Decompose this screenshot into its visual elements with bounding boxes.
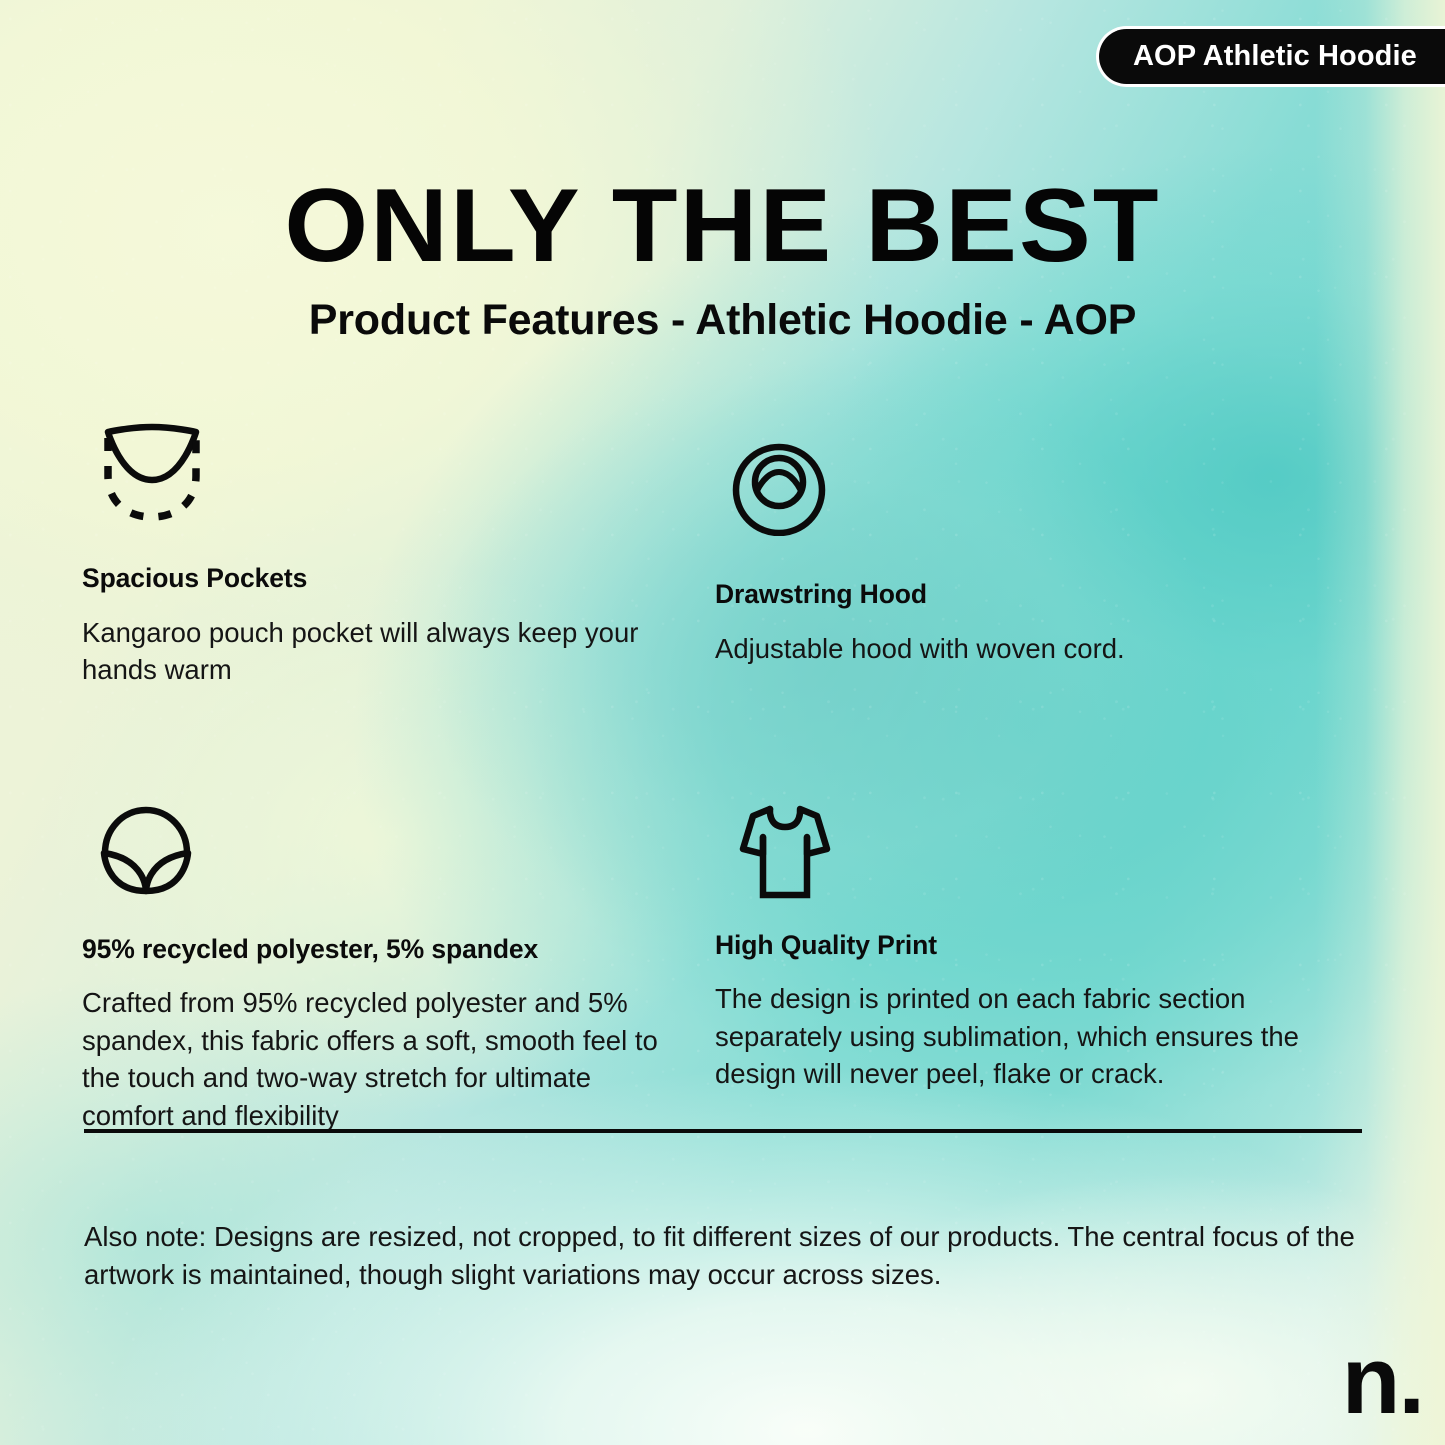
page-subheading: Product Features - Athletic Hoodie - AOP [0,296,1445,345]
feature-drawstring-hood: Drawstring Hood Adjustable hood with wov… [715,418,1372,689]
feature-title: Spacious Pockets [82,563,715,595]
page-headline: ONLY THE BEST [0,174,1445,278]
drawstring-hood-icon [729,438,1372,541]
product-badge-label: AOP Athletic Hoodie [1133,40,1417,73]
recycled-fabric-icon [94,799,715,906]
footnote-text: Also note: Designs are resized, not crop… [84,1218,1374,1295]
feature-title: High Quality Print [715,930,1372,962]
feature-description: The design is printed on each fabric sec… [715,980,1372,1092]
feature-title: Drawstring Hood [715,579,1372,611]
feature-description: Kangaroo pouch pocket will always keep y… [82,614,682,689]
tshirt-print-icon [737,801,1372,906]
feature-grid: Spacious Pockets Kangaroo pouch pocket w… [82,418,1372,1134]
feature-description: Adjustable hood with woven cord. [715,630,1372,667]
product-badge: AOP Athletic Hoodie [1096,26,1445,87]
feature-description: Crafted from 95% recycled polyester and … [82,984,682,1134]
feature-recycled-fabric: 95% recycled polyester, 5% spandex Craft… [82,689,715,1134]
brand-logo: n. [1342,1333,1423,1429]
section-divider [84,1129,1362,1133]
feature-title: 95% recycled polyester, 5% spandex [82,934,715,966]
feature-high-quality-print: High Quality Print The design is printed… [715,689,1372,1134]
pocket-icon [96,418,715,531]
infographic-canvas: AOP Athletic Hoodie ONLY THE BEST Produc… [0,0,1445,1445]
feature-spacious-pockets: Spacious Pockets Kangaroo pouch pocket w… [82,418,715,689]
